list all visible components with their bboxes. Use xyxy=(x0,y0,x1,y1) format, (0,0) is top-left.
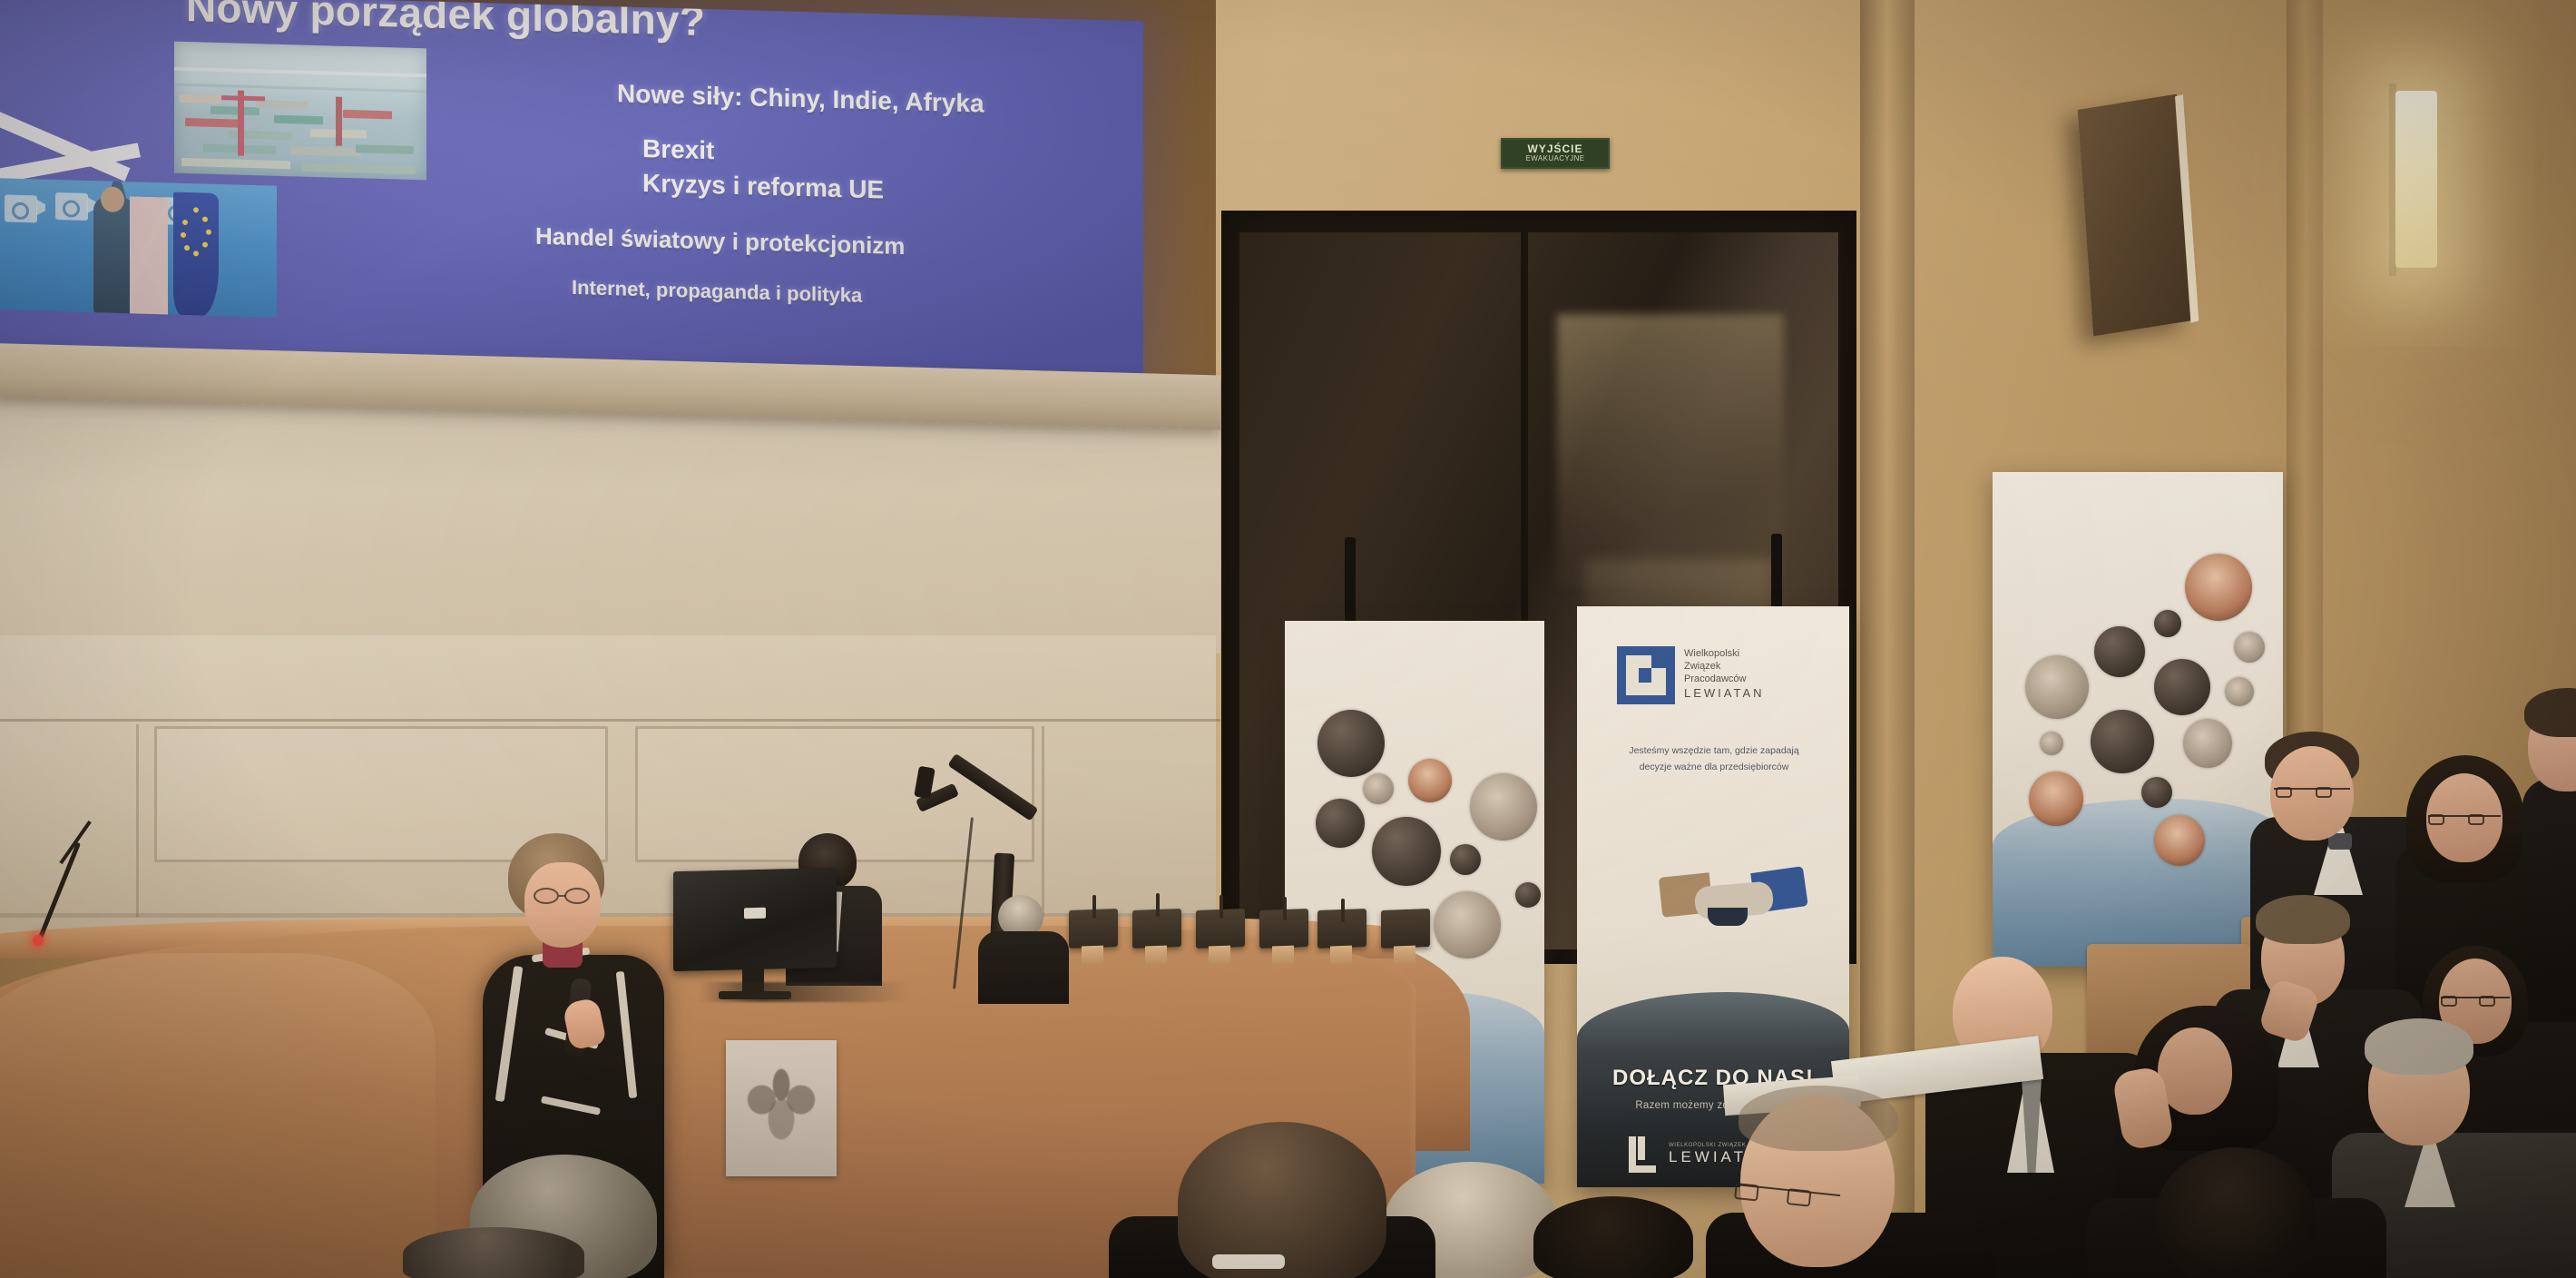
rollup-banner-right xyxy=(1993,472,2283,967)
seated-person-body xyxy=(978,931,1069,1004)
org-line-1: Wielkopolski xyxy=(1684,648,1765,660)
audience-person-hair xyxy=(1739,1086,1898,1151)
conference-hall-photo: Nowy porządek globalny? xyxy=(0,0,2576,1278)
wall-panel-divider xyxy=(1042,726,1044,917)
audience-person-head xyxy=(2158,1027,2232,1115)
eyeglasses-icon xyxy=(2441,997,2510,1006)
computer-monitor-icon xyxy=(673,868,837,971)
lewiatan-mark-icon xyxy=(1617,646,1675,704)
slide-line-1: Nowe siły: Chiny, Indie, Afryka xyxy=(617,79,984,118)
slide-line-4: Handel światowy i protekcjonizm xyxy=(535,222,905,261)
exit-sign-line2: EWAKUACYJNE xyxy=(1525,154,1584,163)
audience-person-body xyxy=(2522,779,2576,1033)
org-name: LEWIATAN xyxy=(1684,686,1765,700)
org-line-3: Pracodawców xyxy=(1684,673,1765,685)
wall-panel-divider-2 xyxy=(136,724,139,917)
audience-person-hair xyxy=(2365,1018,2473,1075)
audience-person-hair xyxy=(1533,1196,1693,1278)
org-line-2: Związek xyxy=(1684,661,1765,673)
projection-screen: Nowy porządek globalny? xyxy=(0,0,1143,379)
audience-person-hair xyxy=(2256,895,2350,944)
eagle-crest-emblem xyxy=(726,1040,837,1176)
slide-line-3: Kryzys i reforma UE xyxy=(642,169,884,204)
eyeglasses-icon xyxy=(2274,788,2350,797)
audience-person-hair xyxy=(2156,1147,2316,1278)
wall-sconce-light xyxy=(2395,91,2437,268)
slide-line-2: Brexit xyxy=(642,134,714,165)
audience-person-hair xyxy=(403,1227,584,1278)
slide-title: Nowy porządek globalny? xyxy=(186,0,705,45)
desk-nameplate xyxy=(1381,909,1430,949)
lewiatan-tagline: Jesteśmy wszędzie tam, gdzie zapadają de… xyxy=(1619,742,1809,776)
exit-sign-line1: WYJŚCIE xyxy=(1527,143,1582,154)
eyeglasses-icon xyxy=(534,888,597,906)
wall-speaker-panel xyxy=(2078,94,2193,337)
exit-sign: WYJŚCIE EWAKUACYJNE xyxy=(1501,138,1610,169)
wall-moulding xyxy=(0,719,1220,722)
lectern xyxy=(0,953,436,1278)
slide-port-photo xyxy=(174,42,426,181)
slide-line-5: Internet, propaganda i polityka xyxy=(572,276,862,308)
eyeglasses-icon xyxy=(2428,815,2501,824)
microphone-led-indicator xyxy=(33,935,44,946)
handshake-icon xyxy=(1660,870,1806,939)
slide-brexit-photo xyxy=(0,178,277,318)
lewiatan-logo: Wielkopolski Związek Pracodawców LEWIATA… xyxy=(1617,646,1817,713)
